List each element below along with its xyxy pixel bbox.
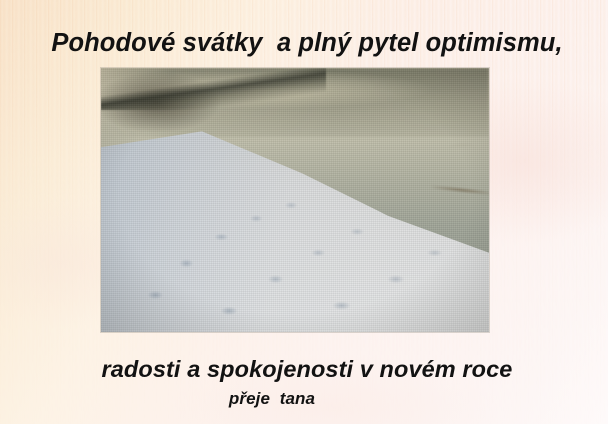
photo-vignette (101, 68, 489, 332)
headline-text: Pohodové svátky a plný pytel optimismu, (0, 28, 608, 58)
winter-landscape-photo (101, 68, 489, 332)
wish-text: radosti a spokojenosti v novém roce (0, 355, 608, 383)
greeting-card: Pohodové svátky a plný pytel optimismu, … (0, 0, 608, 424)
signature-text: přeje tana (0, 388, 608, 409)
